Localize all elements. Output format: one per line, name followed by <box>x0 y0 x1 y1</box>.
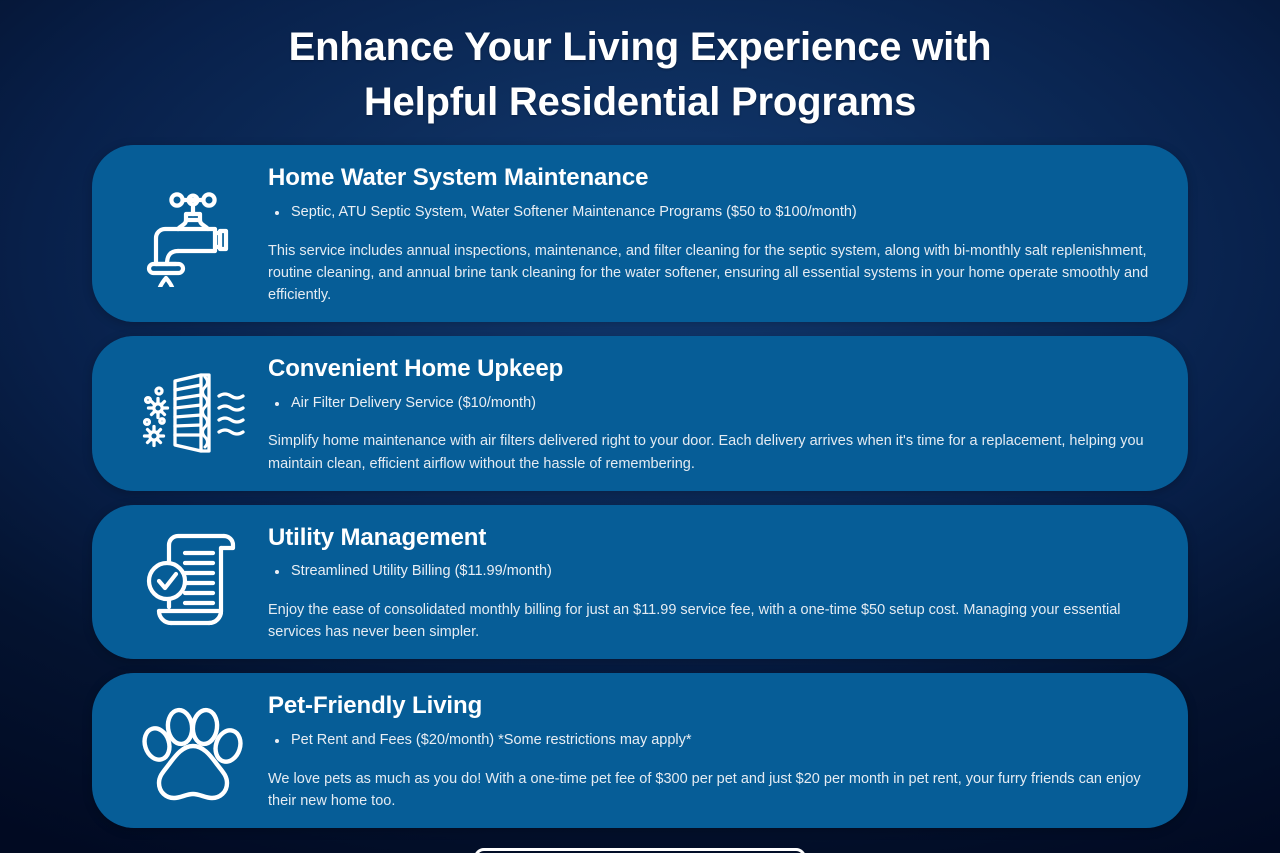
card-bullet-list: Streamlined Utility Billing ($11.99/mont… <box>268 561 1168 583</box>
card-body: Convenient Home Upkeep Air Filter Delive… <box>268 352 1174 475</box>
page-title-line-1: Enhance Your Living Experience with <box>0 20 1280 75</box>
card-description: Enjoy the ease of consolidated monthly b… <box>268 599 1168 643</box>
brand-logo: SECOND AVENUE <box>0 848 1280 853</box>
card-bullet: Septic, ATU Septic System, Water Softene… <box>268 202 1168 224</box>
card-bullet: Pet Rent and Fees ($20/month) *Some rest… <box>268 730 1168 752</box>
card-description: Simplify home maintenance with air filte… <box>268 430 1168 474</box>
card-title: Home Water System Maintenance <box>268 163 1168 193</box>
card-bullet: Air Filter Delivery Service ($10/month) <box>268 393 1168 415</box>
card-bullet-list: Pet Rent and Fees ($20/month) *Some rest… <box>268 730 1168 752</box>
document-check-icon <box>118 529 268 635</box>
paw-print-icon <box>118 699 268 801</box>
program-card[interactable]: Convenient Home Upkeep Air Filter Delive… <box>92 336 1188 491</box>
card-title: Convenient Home Upkeep <box>268 354 1168 384</box>
page-title-line-2: Helpful Residential Programs <box>0 75 1280 130</box>
card-body: Utility Management Streamlined Utility B… <box>268 521 1174 644</box>
card-bullet-list: Air Filter Delivery Service ($10/month) <box>268 393 1168 415</box>
card-title: Utility Management <box>268 523 1168 553</box>
air-filter-icon <box>118 362 268 464</box>
card-description: We love pets as much as you do! With a o… <box>268 768 1168 812</box>
program-card-list: Home Water System Maintenance Septic, AT… <box>0 145 1280 827</box>
card-description: This service includes annual inspections… <box>268 240 1168 306</box>
program-card[interactable]: Pet-Friendly Living Pet Rent and Fees ($… <box>92 673 1188 828</box>
program-card[interactable]: Home Water System Maintenance Septic, AT… <box>92 145 1188 322</box>
card-bullet-list: Septic, ATU Septic System, Water Softene… <box>268 202 1168 224</box>
card-bullet: Streamlined Utility Billing ($11.99/mont… <box>268 561 1168 583</box>
page-title: Enhance Your Living Experience with Help… <box>0 0 1280 130</box>
program-card[interactable]: Utility Management Streamlined Utility B… <box>92 505 1188 660</box>
card-body: Home Water System Maintenance Septic, AT… <box>268 161 1174 306</box>
faucet-icon <box>118 181 268 287</box>
card-body: Pet-Friendly Living Pet Rent and Fees ($… <box>268 689 1174 812</box>
infographic-page: Enhance Your Living Experience with Help… <box>0 0 1280 853</box>
logo-outline: SECOND AVENUE <box>474 848 807 853</box>
card-title: Pet-Friendly Living <box>268 691 1168 721</box>
